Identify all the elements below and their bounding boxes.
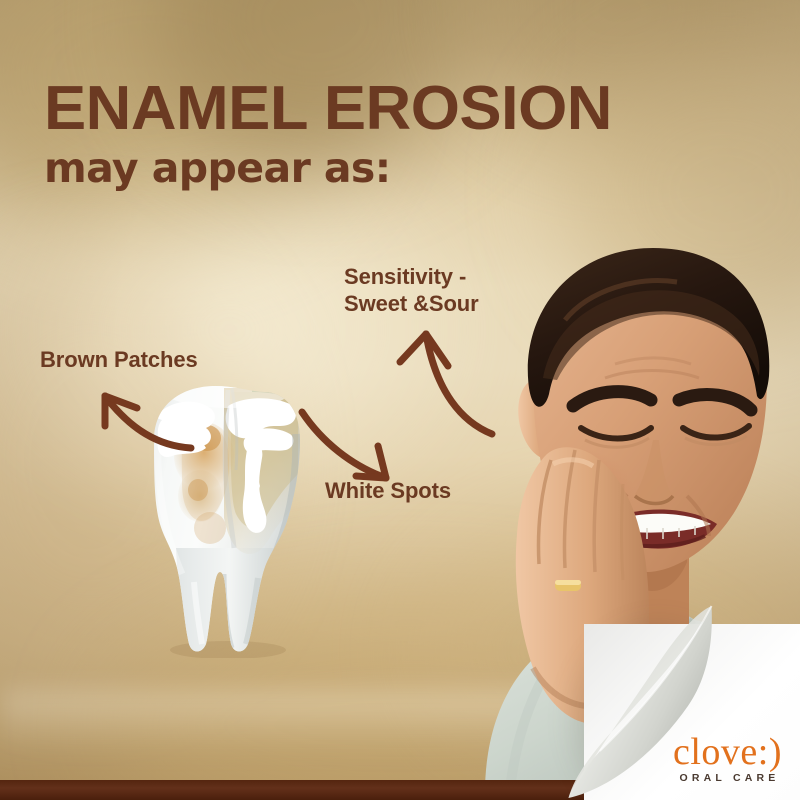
label-brown-patches: Brown Patches — [40, 346, 198, 373]
poster-canvas: ENAMEL EROSION may appear as: Sensitivit… — [0, 0, 800, 800]
label-sensitivity: Sensitivity - Sweet &Sour — [344, 263, 479, 317]
headline-block: ENAMEL EROSION may appear as: — [44, 80, 744, 190]
logo-tagline: ORAL CARE — [673, 772, 782, 784]
brand-logo: clove:) ORAL CARE — [673, 733, 782, 784]
page-title: ENAMEL EROSION — [44, 80, 758, 138]
curved-arrow-up-left-icon — [55, 372, 195, 452]
label-white-spots: White Spots — [325, 477, 451, 504]
page-subtitle: may appear as: — [44, 146, 744, 190]
curved-arrow-up-icon — [370, 318, 500, 438]
logo-wordmark: clove:) — [673, 733, 782, 771]
